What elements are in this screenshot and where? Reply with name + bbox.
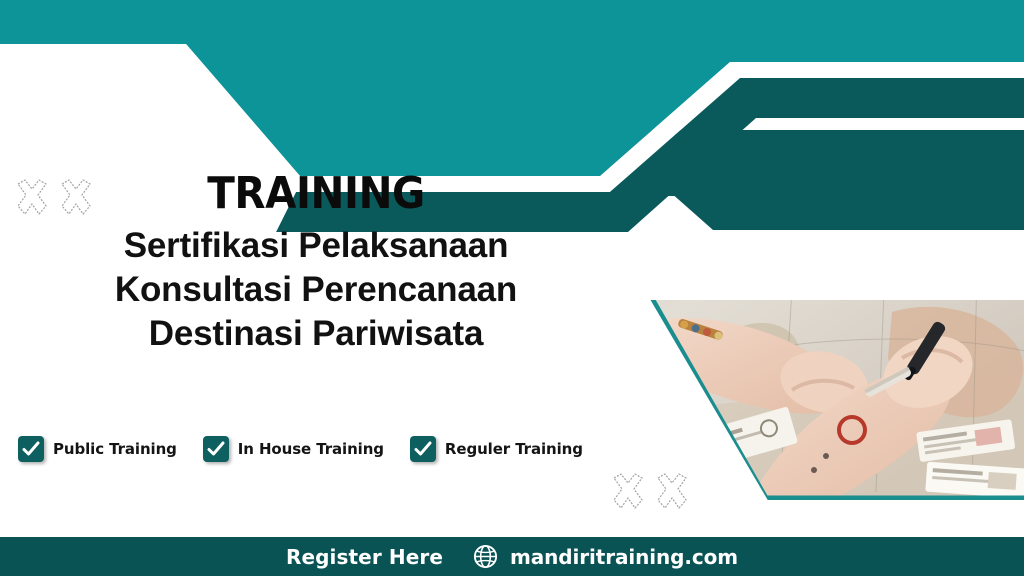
training-type-label: In House Training bbox=[238, 440, 384, 458]
page-title: Sertifikasi Pelaksanaan Konsultasi Peren… bbox=[60, 224, 572, 356]
x-mark-icon bbox=[12, 176, 52, 220]
page-title-eyebrow: TRAINING bbox=[80, 172, 551, 216]
checkbox-checked-icon[interactable] bbox=[203, 436, 229, 462]
checkbox-checked-icon[interactable] bbox=[410, 436, 436, 462]
decorative-x-marks-mid bbox=[608, 470, 692, 514]
hexagon-photo-travel-planning bbox=[640, 72, 1024, 504]
register-here-label[interactable]: Register Here bbox=[286, 545, 443, 569]
training-type-label: Public Training bbox=[53, 440, 177, 458]
globe-icon bbox=[473, 544, 498, 569]
band-light-left bbox=[0, 0, 186, 46]
page-title-line-3: Destinasi Pariwisata bbox=[60, 312, 572, 356]
x-mark-icon bbox=[652, 470, 692, 514]
training-type-list: Public Training In House Training Regule… bbox=[18, 436, 583, 462]
website-link[interactable]: mandiritraining.com bbox=[473, 544, 738, 569]
x-mark-icon bbox=[608, 470, 648, 514]
training-poster: TRAINING Sertifikasi Pelaksanaan Konsult… bbox=[0, 0, 1024, 576]
band-b-light-left bbox=[0, 0, 186, 44]
band-light-slab2 bbox=[0, 0, 340, 46]
band-light-slab bbox=[0, 0, 360, 46]
training-type-label: Reguler Training bbox=[445, 440, 583, 458]
page-title-line-2: Konsultasi Perencanaan bbox=[60, 268, 572, 312]
band-light-leftfill bbox=[0, 0, 330, 46]
website-label: mandiritraining.com bbox=[510, 545, 738, 569]
training-type-reguler[interactable]: Reguler Training bbox=[410, 436, 583, 462]
training-type-public[interactable]: Public Training bbox=[18, 436, 177, 462]
checkbox-checked-icon[interactable] bbox=[18, 436, 44, 462]
page-title-line-1: Sertifikasi Pelaksanaan bbox=[60, 224, 572, 268]
footer-bar: Register Here mandiritraining.com bbox=[0, 537, 1024, 576]
headline-block: TRAINING Sertifikasi Pelaksanaan Konsult… bbox=[60, 172, 572, 356]
training-type-in-house[interactable]: In House Training bbox=[203, 436, 384, 462]
